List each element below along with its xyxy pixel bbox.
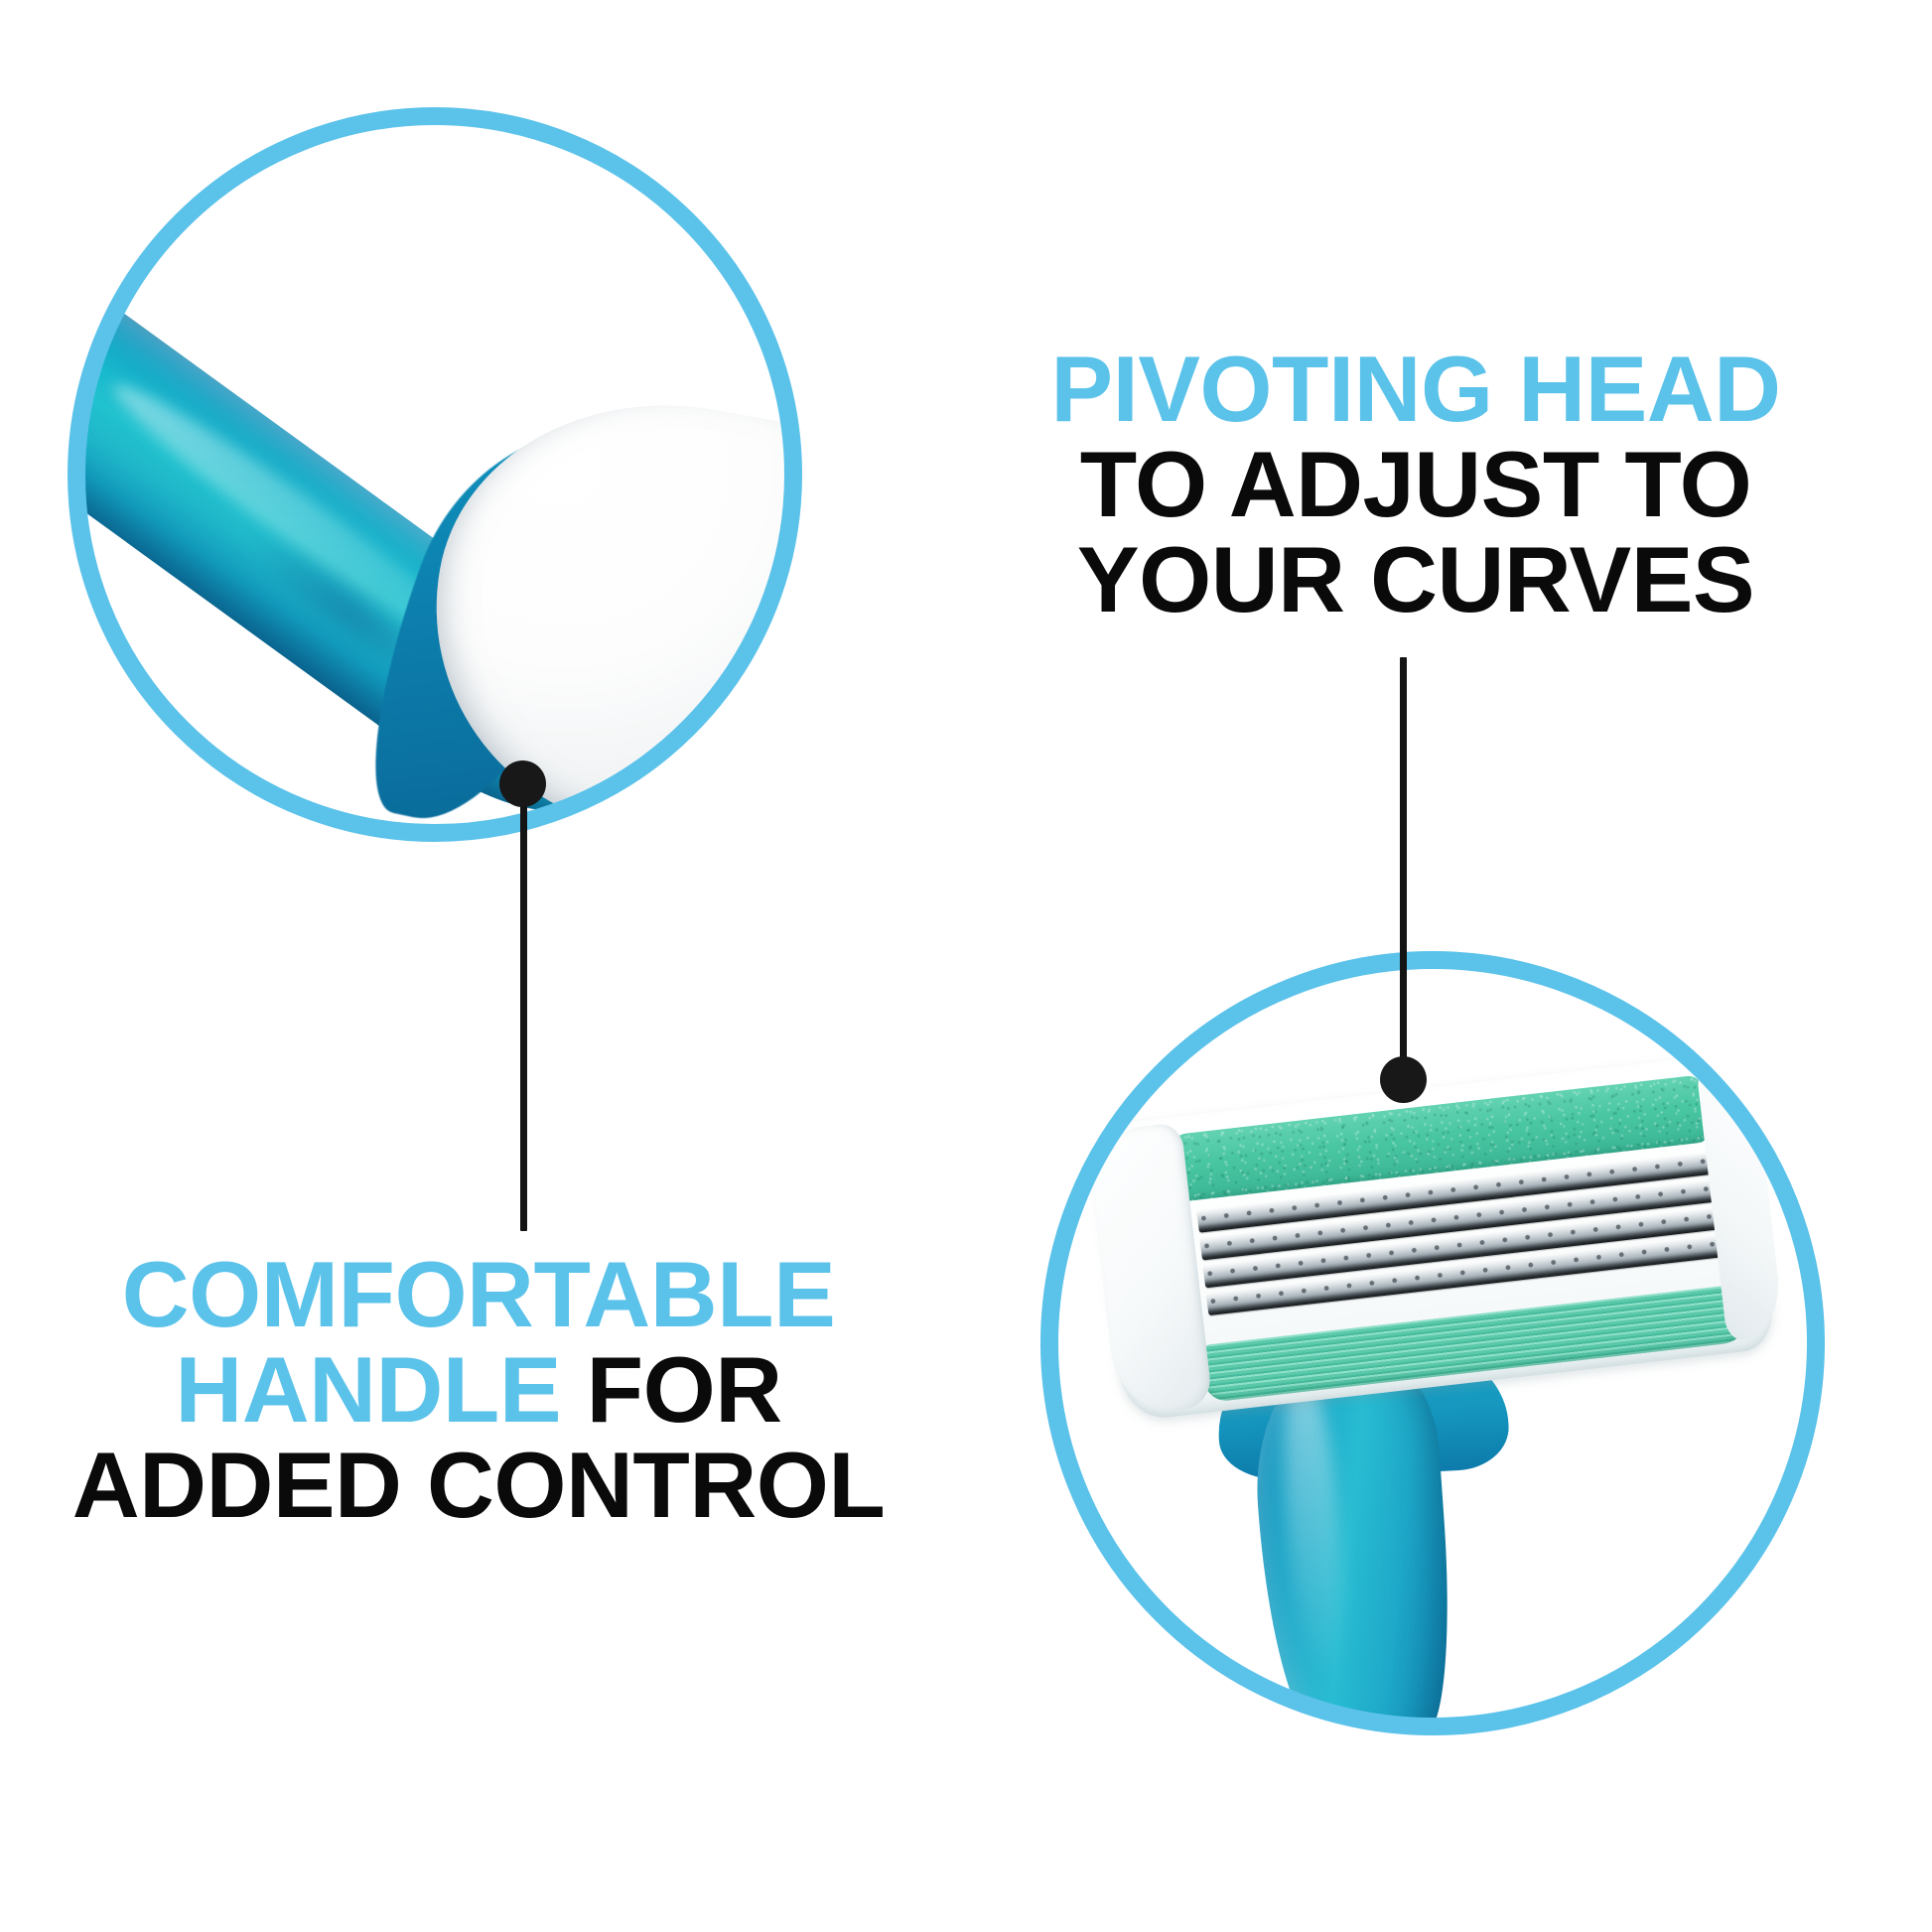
- callout-pivoting-head-line3: YOUR CURVES: [979, 532, 1853, 627]
- leader-line-head: [1400, 657, 1407, 1084]
- callout-comfortable-handle-line2-black: FOR: [587, 1337, 782, 1442]
- callout-comfortable-handle-line1: COMFORTABLE: [52, 1247, 905, 1342]
- callout-pivoting-head: PIVOTING HEAD TO ADJUST TO YOUR CURVES: [979, 342, 1853, 627]
- infographic-canvas: PIVOTING HEAD TO ADJUST TO YOUR CURVES C…: [0, 0, 1932, 1932]
- handle-circle-ring: [68, 107, 802, 842]
- callout-comfortable-handle: COMFORTABLE HANDLE FOR ADDED CONTROL: [52, 1247, 905, 1533]
- leader-line-handle: [520, 802, 527, 1231]
- leader-dot-head: [1380, 1056, 1427, 1103]
- callout-pivoting-head-line1: PIVOTING HEAD: [979, 342, 1853, 437]
- leader-dot-handle: [499, 760, 546, 807]
- callout-comfortable-handle-line3: ADDED CONTROL: [52, 1438, 905, 1533]
- callout-pivoting-head-line2: TO ADJUST TO: [979, 437, 1853, 532]
- callout-comfortable-handle-line2-blue: HANDLE: [175, 1337, 561, 1442]
- razor-head-circle-ring: [1040, 951, 1825, 1735]
- callout-comfortable-handle-line2: HANDLE FOR: [52, 1342, 905, 1438]
